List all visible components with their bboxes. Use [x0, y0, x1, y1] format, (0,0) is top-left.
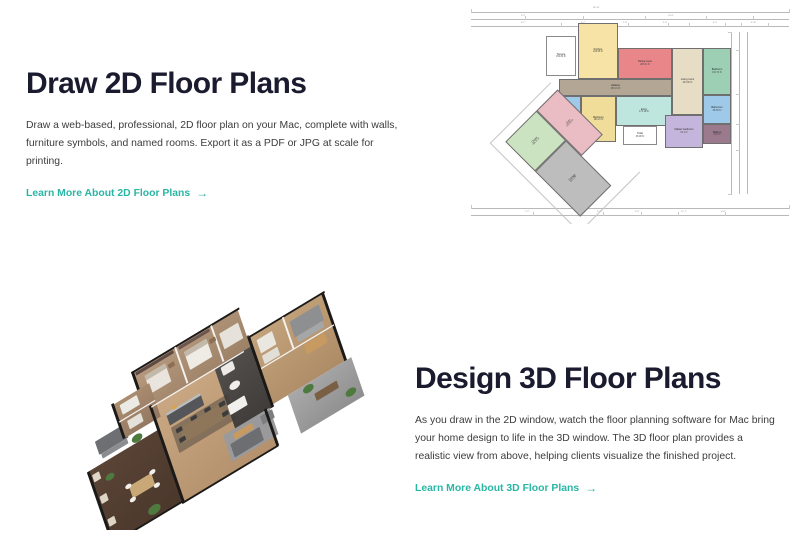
section-2d-text: Draw 2D Floor Plans Draw a web-based, pr…: [26, 68, 411, 201]
isometric-stage: [74, 268, 376, 530]
room-area: 38.08 ft²: [636, 136, 644, 139]
room-terrace: Terrace 154.81 ft²: [546, 36, 576, 76]
arrow-right-icon: →: [196, 187, 208, 199]
room-area: 64.1 ft²: [680, 132, 687, 135]
section-3d-description: As you draw in the 2D window, watch the …: [415, 412, 780, 466]
page-title-2d: Draw 2D Floor Plans: [26, 68, 411, 100]
room-area: 162.21 ft²: [594, 119, 604, 122]
room-master-bedroom: Master bedroom 64.1 ft²: [665, 115, 703, 148]
floor-plan-2d-image: 38'-10" 9'-2" 14'-6" 4'-1" 3'-7" 2'-9" 5…: [463, 2, 798, 224]
page-title-3d: Design 3D Floor Plans: [415, 363, 790, 395]
arrow-right-icon: →: [585, 482, 597, 494]
room-entry: Entry 172.18 ft²: [616, 96, 672, 126]
room-area: 172.18 ft²: [639, 111, 649, 114]
room-area: 343.36 ft²: [683, 82, 693, 85]
learn-more-2d-label: Learn More About 2D Floor Plans: [26, 188, 190, 199]
room-walkin: Walk-in 46.2 ft²: [703, 124, 731, 144]
room-area: 166.74 ft²: [712, 72, 722, 75]
room-area: 182.53 ft²: [593, 51, 603, 54]
room-toilet: Toilet 38.08 ft²: [623, 126, 657, 145]
section-3d-text: Design 3D Floor Plans As you draw in the…: [415, 363, 790, 496]
room-area: 285.19 ft²: [611, 88, 621, 91]
section-2d-description: Draw a web-based, professional, 2D floor…: [26, 117, 406, 171]
room-area: 46.2 ft²: [713, 134, 720, 137]
room-living: Living room 343.36 ft²: [672, 48, 703, 115]
room-bedroom-green: Bedroom 166.74 ft²: [703, 48, 731, 95]
room-dining: Dining room 288.41 ft²: [618, 48, 672, 79]
marketing-page: Draw 2D Floor Plans Draw a web-based, pr…: [0, 0, 800, 558]
room-area: 288.41 ft²: [640, 64, 650, 67]
learn-more-2d-link[interactable]: Learn More About 2D Floor Plans →: [26, 187, 208, 199]
learn-more-3d-label: Learn More About 3D Floor Plans: [415, 483, 579, 494]
room-area: 154.81 ft²: [556, 56, 566, 59]
room-area: 88.59 ft²: [713, 110, 721, 113]
room-kitchen: Kitchen 182.53 ft²: [578, 23, 618, 79]
room-hallway: Hallway 285.19 ft²: [559, 79, 672, 96]
floor-plan-3d-image: [40, 268, 410, 530]
learn-more-3d-link[interactable]: Learn More About 3D Floor Plans →: [415, 482, 597, 494]
room-bathroom-right: Bathroom 88.59 ft²: [703, 95, 731, 124]
